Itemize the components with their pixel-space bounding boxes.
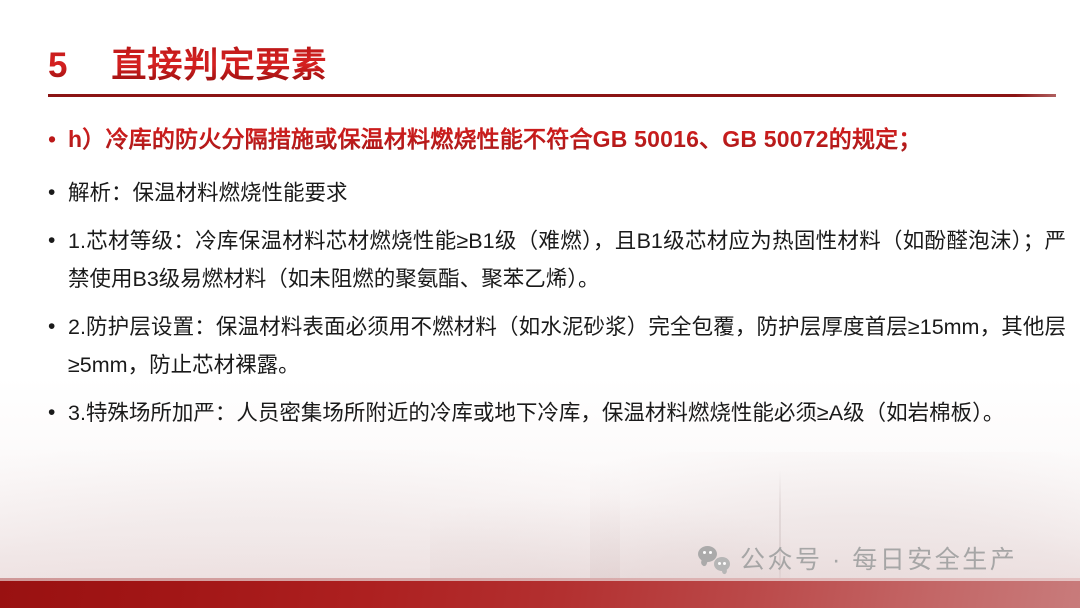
bullet-marker-icon: • (48, 174, 68, 212)
list-item: • h）冷库的防火分隔措施或保温材料燃烧性能不符合GB 50016、GB 500… (48, 118, 1066, 160)
title-block: 5 直接判定要素 (48, 44, 1058, 88)
bullet-list: • h）冷库的防火分隔措施或保温材料燃烧性能不符合GB 50016、GB 500… (48, 118, 1066, 442)
hill-silhouette-right (590, 452, 1080, 580)
watermark-text: 公众号 · 每日安全生产 (740, 540, 1017, 576)
list-item: • 解析：保温材料燃烧性能要求 (48, 174, 1066, 212)
list-item-text: h）冷库的防火分隔措施或保温材料燃烧性能不符合GB 50016、GB 50072… (68, 118, 1066, 160)
list-item: • 1.芯材等级：冷库保温材料芯材燃烧性能≥B1级（难燃），且B1级芯材应为热固… (48, 222, 1066, 298)
bullet-marker-icon: • (48, 308, 68, 346)
background-seam-line (779, 470, 781, 582)
wechat-icon (698, 545, 730, 571)
slide-canvas: 5 直接判定要素 • h）冷库的防火分隔措施或保温材料燃烧性能不符合GB 500… (0, 0, 1080, 608)
list-item-text: 1.芯材等级：冷库保温材料芯材燃烧性能≥B1级（难燃），且B1级芯材应为热固性材… (68, 222, 1066, 298)
title-underline-rule (48, 94, 1056, 97)
page-title: 5 直接判定要素 (48, 44, 1058, 88)
bullet-marker-icon: • (48, 394, 68, 432)
hill-silhouette-left (0, 450, 620, 580)
bullet-marker-icon: • (48, 118, 68, 160)
bullet-marker-icon: • (48, 222, 68, 260)
list-item-text: 3.特殊场所加严：人员密集场所附近的冷库或地下冷库，保温材料燃烧性能必须≥A级（… (68, 394, 1066, 432)
footer-bar (0, 581, 1080, 608)
list-item: • 2.防护层设置：保温材料表面必须用不燃材料（如水泥砂浆）完全包覆，防护层厚度… (48, 308, 1066, 384)
list-item: • 3.特殊场所加严：人员密集场所附近的冷库或地下冷库，保温材料燃烧性能必须≥A… (48, 394, 1066, 432)
list-item-text: 解析：保温材料燃烧性能要求 (68, 174, 1066, 212)
list-item-text: 2.防护层设置：保温材料表面必须用不燃材料（如水泥砂浆）完全包覆，防护层厚度首层… (68, 308, 1066, 384)
hill-silhouette-mid (430, 490, 790, 580)
watermark: 公众号 · 每日安全生产 (698, 540, 1017, 576)
